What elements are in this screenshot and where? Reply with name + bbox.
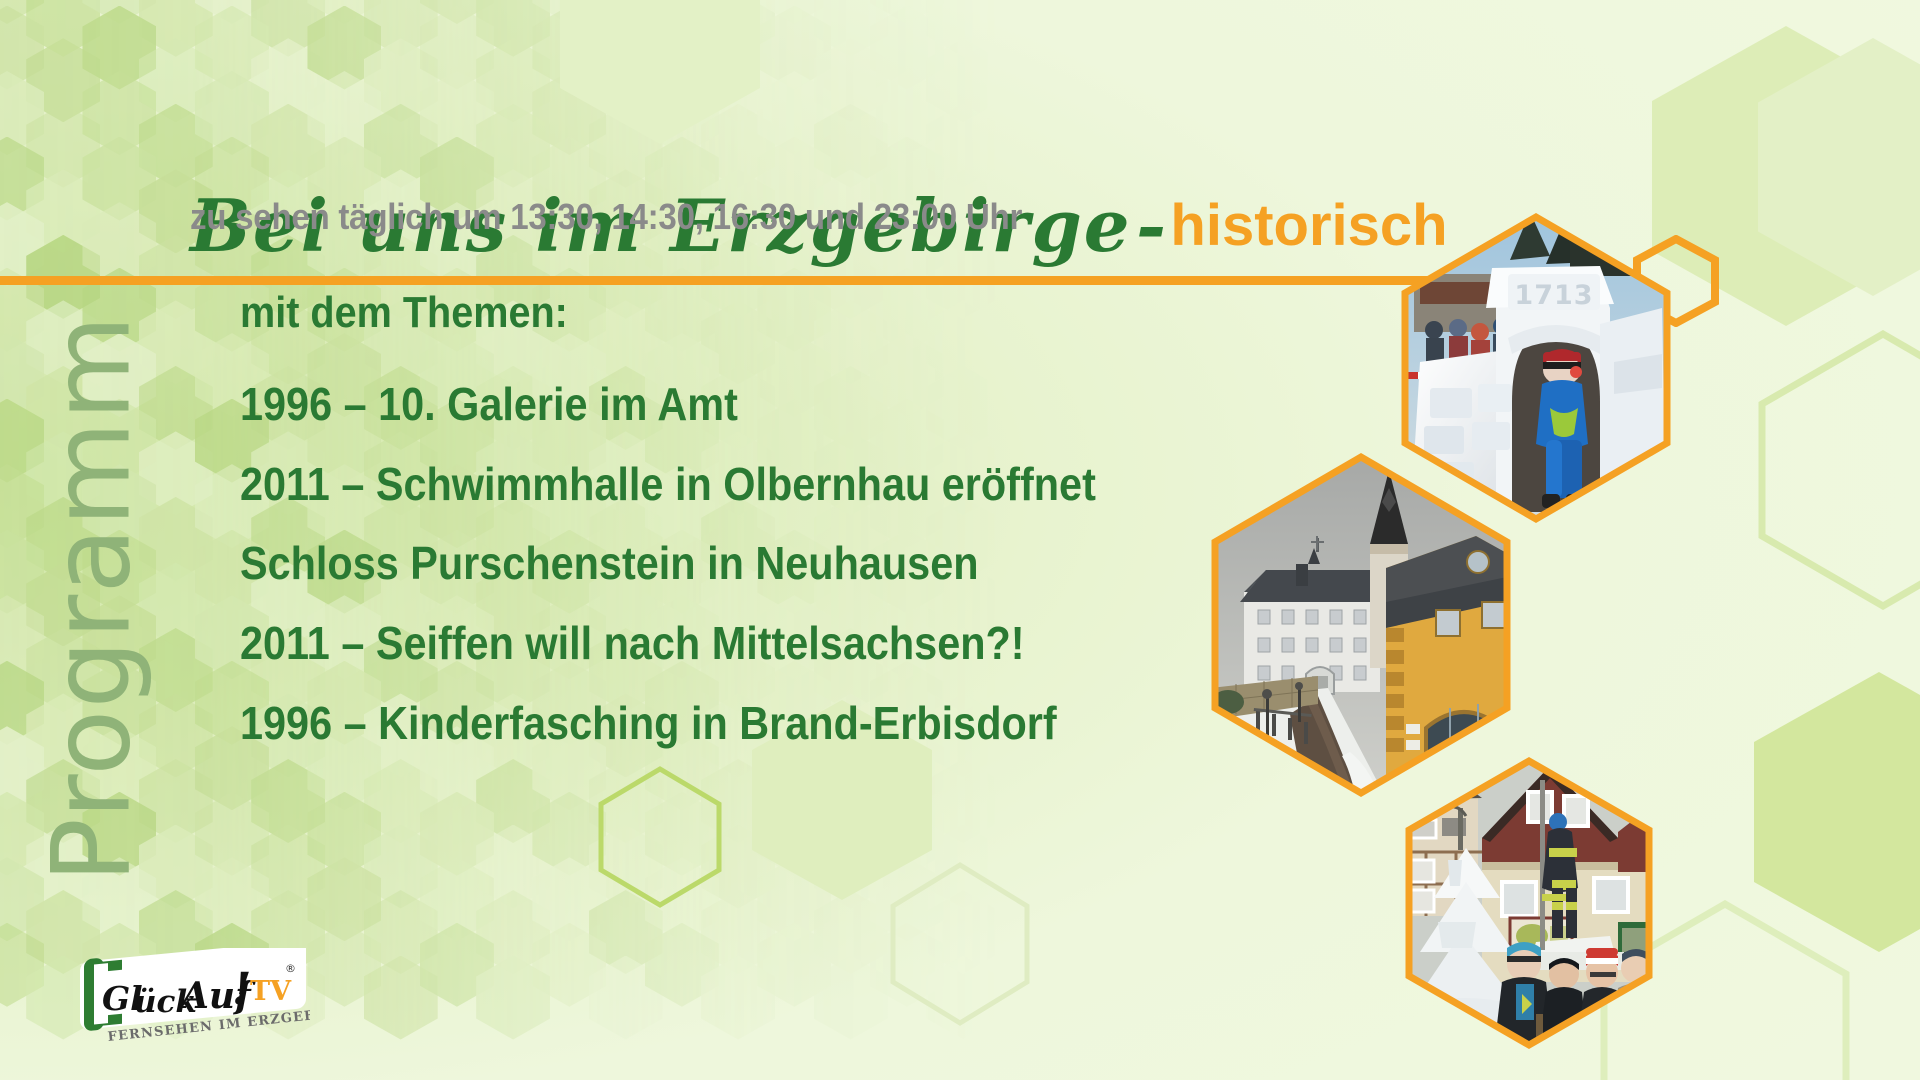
gluckauf-tv-logo[interactable]: Gl ück Auf ! TV ® FERNSEHEN IM ERZGEBIRG…: [78, 948, 310, 1054]
decorative-hexagon-outline-lime: [598, 766, 722, 908]
list-item: Schloss Purschenstein in Neuhausen: [240, 539, 1194, 589]
header-rule: [0, 276, 1642, 285]
topic-list: mit dem Themen: 1996 – 10. Galerie im Am…: [240, 288, 1300, 778]
photo-hexagon-snow-pyramid-crowd: [1404, 756, 1654, 1050]
page-title-dash: -: [1136, 183, 1166, 268]
svg-text:1713: 1713: [1514, 280, 1593, 311]
svg-text:!: !: [232, 964, 251, 1015]
decorative-hexagon-outline-faint: [890, 862, 1030, 1026]
list-item: 2011 – Seiffen will nach Mittelsachsen?!: [240, 619, 1194, 669]
topics-label: mit dem Themen:: [240, 288, 1194, 338]
list-item: 2011 – Schwimmhalle in Olbernhau eröffne…: [240, 460, 1194, 510]
photo-hexagon-schloss-purschenstein: [1210, 452, 1512, 798]
list-item: 1996 – Kinderfasching in Brand-Erbisdorf: [240, 699, 1194, 749]
decorative-hexagon-outline-right-upper: [1758, 330, 1920, 610]
broadcast-times-subtitle: zu sehen täglich um 13:30, 14:30, 16:30 …: [190, 196, 1022, 238]
logo-registered-mark: ®: [285, 962, 296, 975]
logo-tv-text: TV: [250, 976, 292, 1007]
list-item: 1996 – 10. Galerie im Amt: [240, 380, 1194, 430]
